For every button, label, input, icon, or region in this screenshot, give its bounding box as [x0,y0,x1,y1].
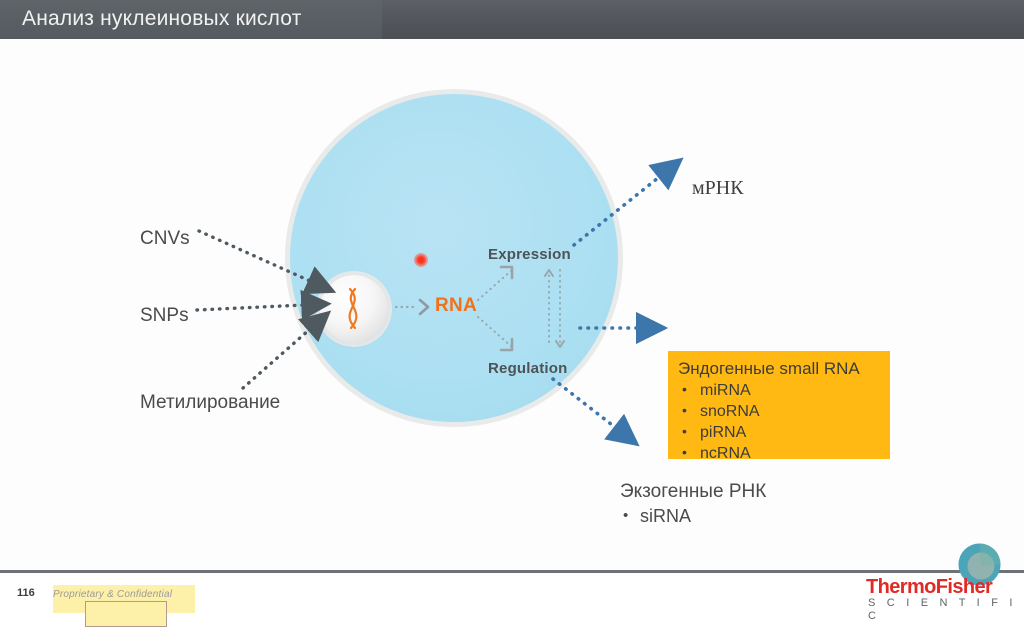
list-item: ncRNA [668,443,890,464]
label-mrna: мРНК [692,177,744,200]
page-title: Анализ нуклеиновых кислот [22,7,302,31]
connector-regulation-to-exogenous [553,379,634,442]
label-methylation: Метилирование [140,392,280,414]
list-item: snoRNA [668,401,890,422]
chromosome-icon [344,287,364,331]
yellow-note-inner-frame [85,601,167,627]
list-item: siRNA [620,505,766,528]
label-expression: Expression [488,246,571,263]
logo-brand-text: ThermoFisher [866,577,1024,597]
list-item: piRNA [668,422,890,443]
page-number: 116 [17,587,35,599]
slide-canvas: CNVs SNPs Метилирование RNA Expression R… [0,39,1024,574]
logo-tagline-text: S C I E N T I F I C [868,597,1024,623]
footer-divider [0,570,1024,573]
endogenous-small-rna-box: Эндогенные small RNA miRNA snoRNA piRNA … [668,351,890,459]
exogenous-rna-block: Экзогенные РНК siRNA [620,480,766,528]
nucleus [320,275,388,343]
endogenous-box-list: miRNA snoRNA piRNA ncRNA [668,380,890,464]
red-marker-dot [414,253,428,267]
endogenous-box-title: Эндогенные small RNA [678,358,890,380]
slide-title-bar: Анализ нуклеиновых кислот [0,0,1024,39]
label-snps: SNPs [140,305,189,327]
label-cnvs: CNVs [140,228,190,250]
list-item: miRNA [668,380,890,401]
confidential-notice: Proprietary & Confidential [53,589,172,600]
thermofisher-logo: ThermoFisher S C I E N T I F I C [866,577,1024,623]
exogenous-list: siRNA [620,505,766,528]
label-rna: RNA [435,295,477,317]
exogenous-title: Экзогенные РНК [620,480,766,503]
label-regulation: Regulation [488,360,568,377]
